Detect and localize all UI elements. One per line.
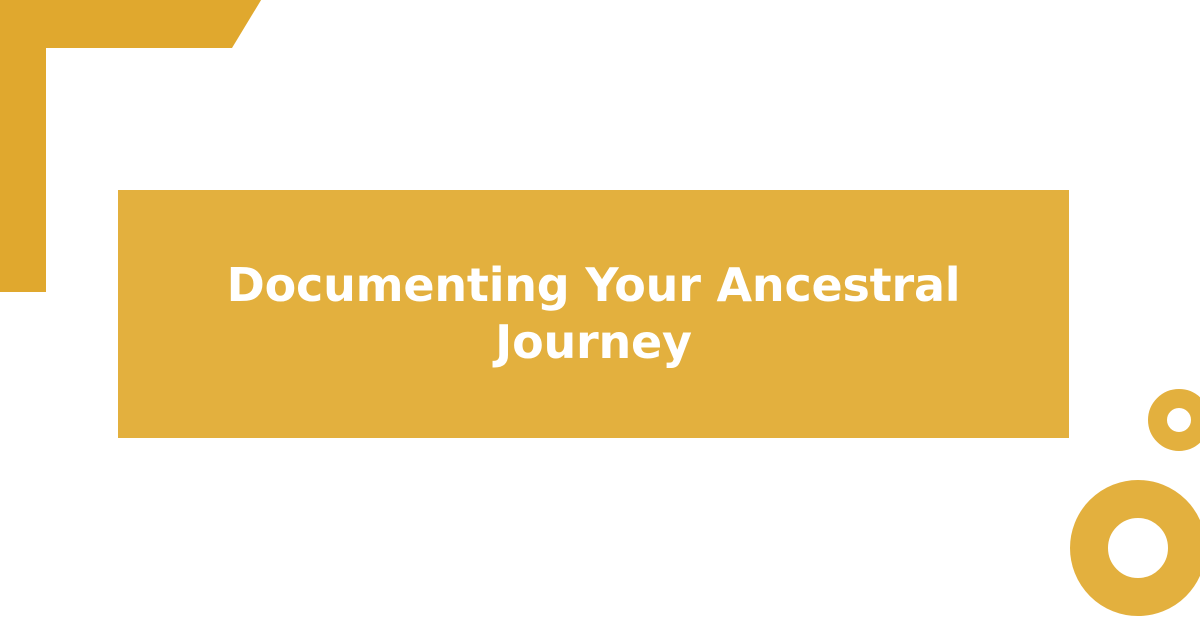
title-banner: Documenting Your Ancestral Journey: [118, 190, 1069, 438]
corner-bracket-left-arm: [0, 0, 46, 292]
small-ring-decoration: [1148, 389, 1200, 451]
page-title: Documenting Your Ancestral Journey: [178, 257, 1009, 372]
large-ring-decoration: [1070, 480, 1200, 616]
social-card-canvas: Documenting Your Ancestral Journey: [0, 0, 1200, 630]
